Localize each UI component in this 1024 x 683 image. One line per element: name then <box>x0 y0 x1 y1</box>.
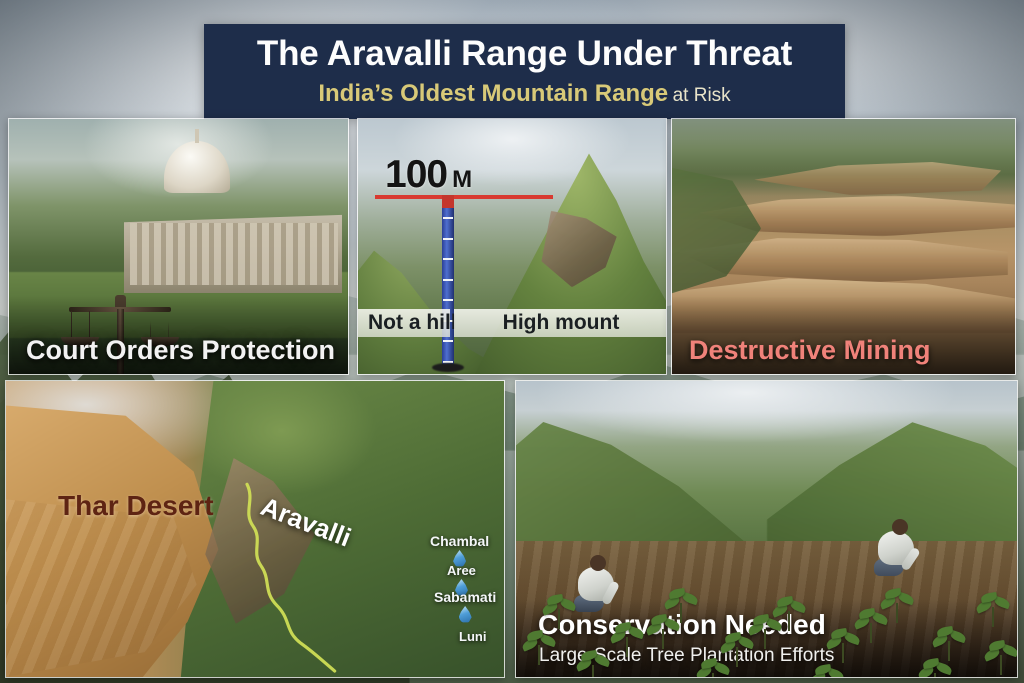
label-thar-desert: Thar Desert <box>58 490 214 522</box>
river-label: Chambal <box>430 533 489 549</box>
panel-caption-mining: Destructive Mining <box>689 335 931 366</box>
river-marker-luni: Luni <box>459 629 486 644</box>
ruler-tick <box>443 340 453 342</box>
sapling-stem <box>662 629 664 649</box>
sapling-stem <box>626 637 628 657</box>
label-not-a-hill: Not a hill <box>358 311 467 335</box>
tree-sapling <box>578 649 608 678</box>
sapling-stem <box>870 623 872 643</box>
panel-thar-aravalli-map[interactable] <box>5 380 505 678</box>
height-value: 100 <box>385 153 447 196</box>
ruler-tick <box>443 299 453 301</box>
aravalli-boundary-line <box>6 381 504 677</box>
tree-sapling <box>698 657 728 678</box>
sapling-stem <box>764 629 766 649</box>
sapling-stem <box>1000 655 1002 675</box>
ruler-tick <box>443 258 453 260</box>
page-title: The Aravalli Range Under Threat <box>257 35 792 73</box>
tree-sapling <box>920 657 950 678</box>
sapling-stem <box>896 603 898 623</box>
sapling-stem <box>842 643 844 663</box>
river-label: Luni <box>459 629 486 644</box>
ruler-tick <box>443 217 453 219</box>
measuring-ruler-icon <box>442 195 454 369</box>
tree-sapling <box>750 613 780 649</box>
water-drop-icon <box>459 606 472 623</box>
height-value-label: 100M <box>385 153 471 197</box>
sapling-stem <box>736 647 738 667</box>
ruler-top-segment <box>442 195 454 208</box>
sapling-stem <box>992 607 994 627</box>
panel-caption-court: Court Orders Protection <box>26 335 335 366</box>
tree-sapling <box>986 639 1016 675</box>
river-label: Sabamati <box>434 589 496 605</box>
tree-sapling <box>544 593 574 629</box>
planter-head <box>590 555 606 571</box>
height-unit: M <box>452 166 471 193</box>
sapling-stem <box>788 611 790 631</box>
panel-conservation[interactable]: Conservation Needed Large-Scale Tree Pla… <box>515 380 1018 678</box>
subtitle-light: at Risk <box>673 85 731 106</box>
river-marker-chambal: Chambal <box>430 533 489 567</box>
planter-head <box>892 519 908 535</box>
panel-height-comparison[interactable]: 100M Not a hill High mount <box>357 118 667 375</box>
sapling-stem <box>592 665 594 678</box>
label-band-high-mount: High mount <box>454 309 667 337</box>
ruler-base-shadow <box>432 363 464 372</box>
sapling-stem <box>538 645 540 665</box>
tree-sapling <box>612 621 642 657</box>
river-marker-sabamati: Sabamati <box>434 589 496 623</box>
panel-destructive-mining[interactable]: Destructive Mining <box>671 118 1016 375</box>
river-label: Aree <box>447 563 476 578</box>
panel-court-orders[interactable]: Court Orders Protection <box>8 118 349 375</box>
sapling-stem <box>680 603 682 623</box>
ruler-tick <box>443 238 453 240</box>
tree-sapling <box>978 591 1008 627</box>
title-banner: The Aravalli Range Under Threat India’s … <box>204 24 845 119</box>
sapling-stem <box>558 609 560 629</box>
tree-sapling <box>648 613 678 649</box>
label-band-not-a-hill: Not a hill <box>358 309 450 337</box>
sapling-stem <box>712 673 714 678</box>
ruler-tick <box>443 279 453 281</box>
court-colonnade <box>130 223 338 285</box>
tree-sapling <box>828 627 858 663</box>
subtitle-strong: India’s Oldest Mountain Range <box>318 80 668 107</box>
tree-sapling <box>812 663 842 678</box>
page-subtitle: India’s Oldest Mountain Range at Risk <box>318 80 730 108</box>
label-high-mount: High mount <box>493 311 630 335</box>
height-reference-line <box>375 195 553 199</box>
sapling-stem <box>934 673 936 678</box>
tree-sapling <box>524 629 554 665</box>
tree-sapling <box>856 607 886 643</box>
tree-sapling <box>934 625 964 661</box>
